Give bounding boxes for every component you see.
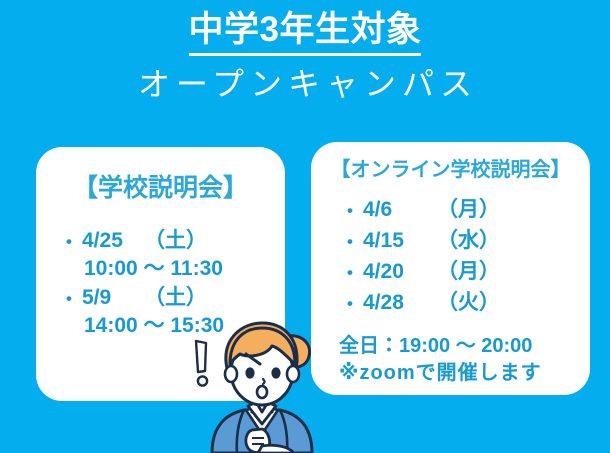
bullet-icon: •: [347, 227, 363, 257]
left-entry-1-date: 5/9: [82, 285, 144, 311]
bullet-icon: •: [347, 258, 363, 288]
page-title-secondary: オープンキャンパス: [0, 64, 610, 104]
poster-canvas: 中学3年生対象 オープンキャンパス 【学校説明会】 •4/25（土） 10:00…: [0, 0, 610, 453]
list-item: •4/15（水）: [347, 226, 576, 257]
right-entry-3-dow: （火）: [437, 291, 500, 314]
left-entry-1-date-row: •5/9（土）: [66, 285, 271, 312]
card-online-briefing: 【オンライン学校説明会】 •4/6（月） •4/15（水） •4/20（月） •…: [311, 142, 590, 395]
bullet-icon: •: [347, 289, 363, 319]
list-item: •4/25（土） 10:00 ～ 11:30: [66, 228, 271, 283]
card-right-heading: 【オンライン学校説明会】: [325, 158, 576, 183]
online-time-note: 全日：19:00 ～ 20:00: [339, 333, 576, 360]
bullet-icon: •: [66, 286, 82, 312]
left-entry-0-date: 4/25: [82, 228, 144, 254]
list-item: •4/6（月）: [347, 195, 576, 226]
right-entry-0-date: 4/6: [363, 195, 437, 225]
bullet-icon: •: [66, 229, 82, 255]
page-title-primary: 中学3年生対象: [189, 8, 422, 56]
right-entry-1-date: 4/15: [363, 226, 437, 256]
right-entry-2-date: 4/20: [363, 257, 437, 287]
right-entry-0-dow: （月）: [437, 198, 500, 221]
card-right-date-list: •4/6（月） •4/15（水） •4/20（月） •4/28（火）: [347, 195, 576, 319]
list-item: •4/28（火）: [347, 288, 576, 319]
card-left-heading: 【学校説明会】: [50, 173, 271, 204]
list-item: •4/20（月）: [347, 257, 576, 288]
schoolgirl-character-illustration: [196, 318, 328, 453]
right-entry-3-date: 4/28: [363, 288, 437, 318]
left-entry-1-dow: （土）: [144, 286, 207, 309]
left-entry-0-dow: （土）: [144, 229, 207, 252]
zoom-note: ※zoomで開催します: [339, 360, 576, 387]
right-entry-1-dow: （水）: [437, 229, 500, 252]
card-right-footer: 全日：19:00 ～ 20:00 ※zoomで開催します: [339, 333, 576, 387]
bullet-icon: •: [347, 196, 363, 226]
left-entry-0-time: 10:00 ～ 11:30: [66, 255, 271, 283]
right-entry-2-dow: （月）: [437, 260, 500, 283]
left-entry-0-date-row: •4/25（土）: [66, 228, 271, 255]
title-block: 中学3年生対象 オープンキャンパス: [0, 8, 610, 104]
